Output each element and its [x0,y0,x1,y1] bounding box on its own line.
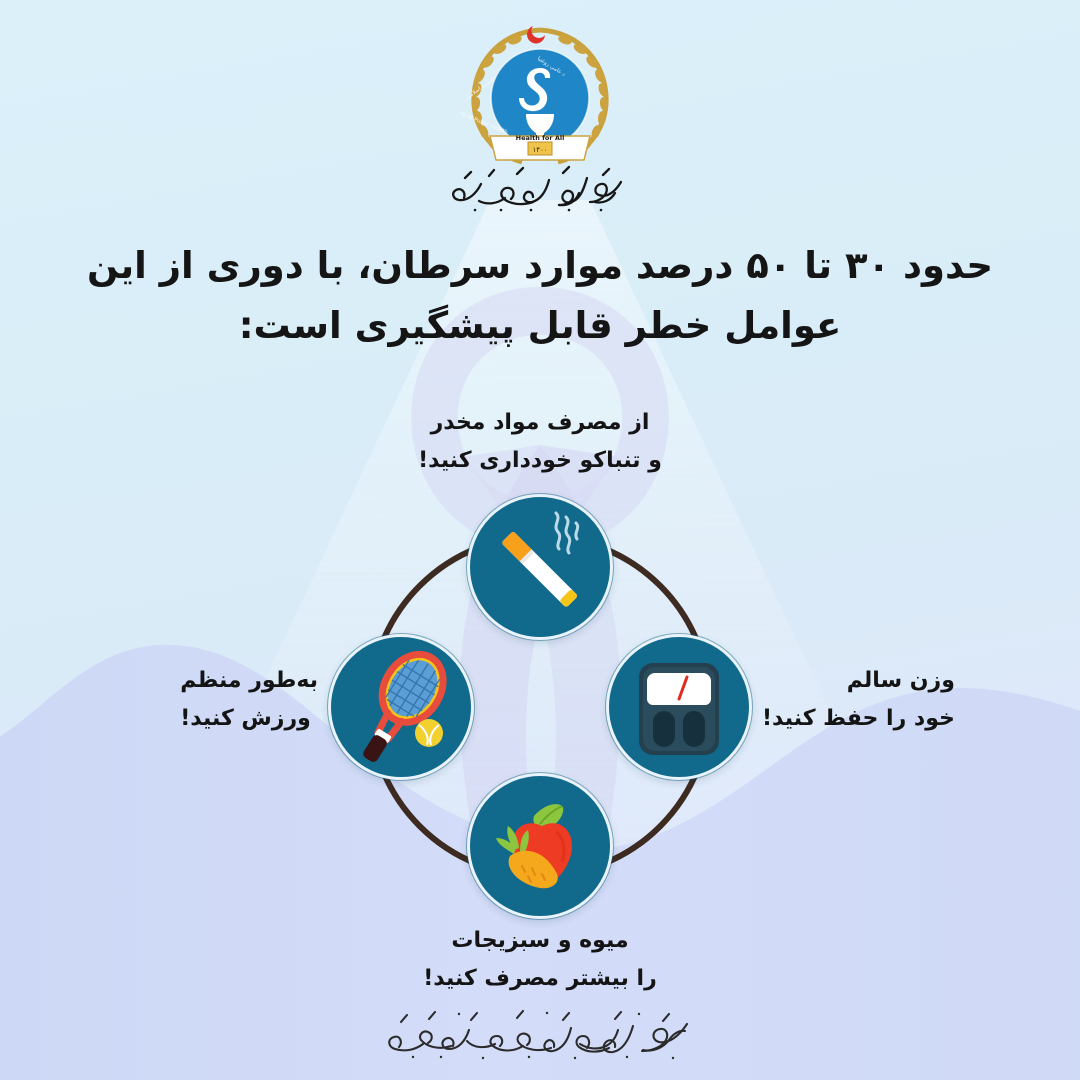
caption-fruits-vegetables-line-2: را بیشتر مصرف کنید! [0,960,1080,998]
title-line-2: عوامل خطر قابل پیشگیری است: [60,296,1020,356]
apple-carrot-icon [470,776,610,916]
prevention-wheel [330,496,750,916]
svg-text:Health for All: Health for All [516,134,565,142]
ministry-name-calligraphy [445,164,635,216]
node-exercise[interactable] [328,634,474,780]
caption-tobacco: از مصرف مواد مخدر و تنباکو خودداری کنید! [0,404,1080,480]
title-line-1: حدود ۳۰ تا ۵۰ درصد موارد سرطان، با دوری … [60,236,1020,296]
ministry-emblem-icon: امارت اسلامی د عامې روغتیا Ministry of P… [460,18,620,168]
footer [0,1008,1080,1068]
bathroom-scale-icon [609,637,749,777]
caption-tobacco-line-1: از مصرف مواد مخدر [0,404,1080,442]
caption-exercise-line-2: ورزش کنید! [180,700,318,738]
node-fruits-vegetables[interactable] [467,773,613,919]
caption-exercise-line-1: به‌طور منظم [180,662,318,700]
page-title: حدود ۳۰ تا ۵۰ درصد موارد سرطان، با دوری … [60,236,1020,356]
svg-text:۱۴۰۰: ۱۴۰۰ [532,146,547,154]
node-healthy-weight[interactable] [606,634,752,780]
cigarette-icon [470,497,610,637]
caption-healthy-weight-line-2: خود را حفظ کنید! [762,700,955,738]
header: امارت اسلامی د عامې روغتیا Ministry of P… [0,18,1080,216]
caption-healthy-weight: وزن سالم خود را حفظ کنید! [762,662,955,738]
tennis-racket-icon [331,637,471,777]
caption-tobacco-line-2: و تنباکو خودداری کنید! [0,442,1080,480]
caption-fruits-vegetables: میوه و سبزیجات را بیشتر مصرف کنید! [0,922,1080,998]
press-office-calligraphy [375,1008,705,1068]
caption-exercise: به‌طور منظم ورزش کنید! [180,662,318,738]
infographic-poster: امارت اسلامی د عامې روغتیا Ministry of P… [0,0,1080,1080]
node-tobacco[interactable] [467,494,613,640]
caption-healthy-weight-line-1: وزن سالم [762,662,955,700]
caption-fruits-vegetables-line-1: میوه و سبزیجات [0,922,1080,960]
